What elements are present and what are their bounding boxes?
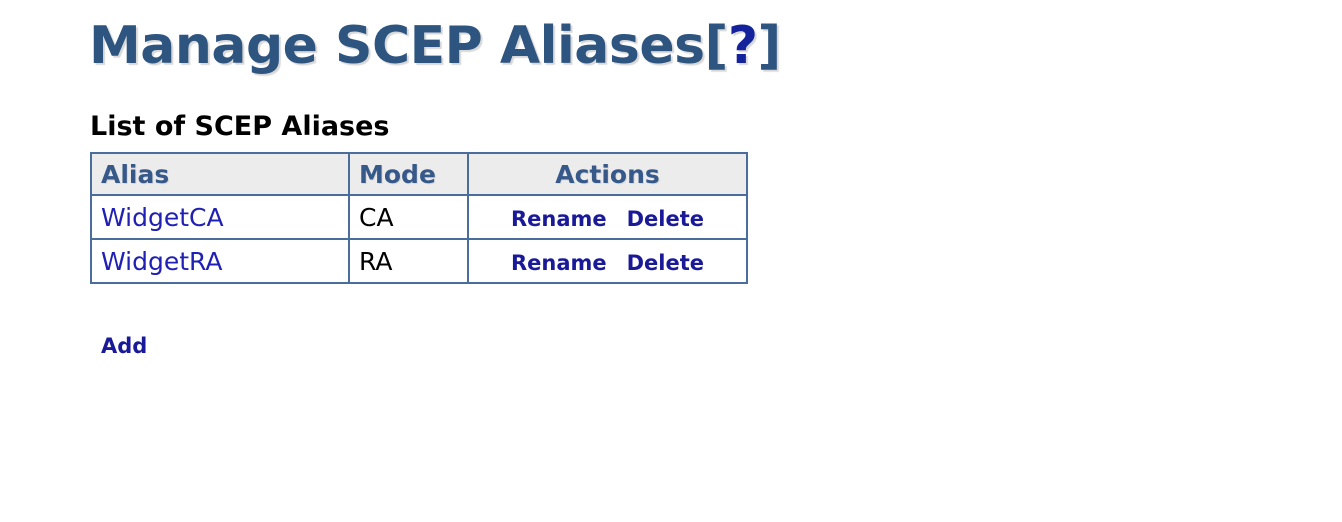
- add-link-container: Add: [101, 334, 147, 358]
- table-header-row: Alias Mode Actions: [91, 153, 747, 195]
- help-bracket-open: [: [705, 16, 728, 76]
- table-row: WidgetCA CA RenameDelete: [91, 195, 747, 239]
- delete-link[interactable]: Delete: [627, 251, 704, 275]
- add-alias-link[interactable]: Add: [101, 334, 147, 358]
- cell-mode: RA: [349, 239, 468, 283]
- table-row: WidgetRA RA RenameDelete: [91, 239, 747, 283]
- cell-alias: WidgetRA: [91, 239, 349, 283]
- cell-actions: RenameDelete: [468, 239, 747, 283]
- cell-alias: WidgetCA: [91, 195, 349, 239]
- delete-link[interactable]: Delete: [627, 207, 704, 231]
- help-link[interactable]: ?: [728, 16, 758, 76]
- help-bracket-close: ]: [757, 16, 780, 76]
- alias-link-widgetra[interactable]: WidgetRA: [101, 247, 223, 276]
- alias-table-body: WidgetCA CA RenameDelete WidgetRA RA Ren…: [91, 195, 747, 283]
- page-title: Manage SCEP Aliases[?]: [89, 17, 781, 75]
- page-root: Manage SCEP Aliases[?] List of SCEP Alia…: [0, 0, 1342, 522]
- column-header-actions: Actions: [468, 153, 747, 195]
- alias-table-head: Alias Mode Actions: [91, 153, 747, 195]
- rename-link[interactable]: Rename: [511, 207, 607, 231]
- cell-actions: RenameDelete: [468, 195, 747, 239]
- alias-link-widgetca[interactable]: WidgetCA: [101, 203, 224, 232]
- section-title: List of SCEP Aliases: [90, 111, 390, 143]
- column-header-mode: Mode: [349, 153, 468, 195]
- column-header-alias: Alias: [91, 153, 349, 195]
- cell-mode: CA: [349, 195, 468, 239]
- page-title-text: Manage SCEP Aliases: [89, 16, 705, 76]
- rename-link[interactable]: Rename: [511, 251, 607, 275]
- alias-table: Alias Mode Actions WidgetCA CA RenameDel…: [90, 152, 748, 284]
